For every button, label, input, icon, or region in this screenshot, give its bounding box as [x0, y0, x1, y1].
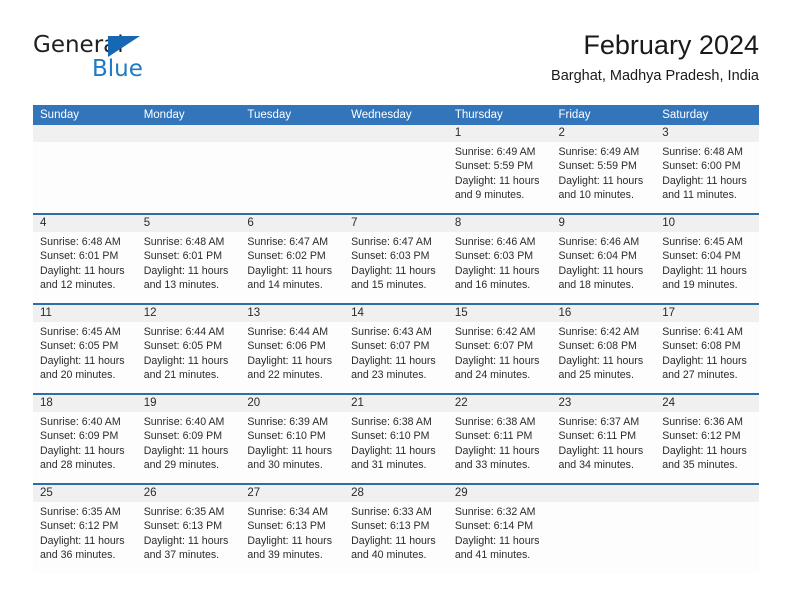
day-number[interactable]: 16: [552, 304, 656, 322]
day-info-line: Sunset: 6:05 PM: [144, 339, 234, 353]
day-info-line: Daylight: 11 hours: [662, 264, 752, 278]
day-info-line: Sunset: 6:05 PM: [40, 339, 130, 353]
day-info-line: and 19 minutes.: [662, 278, 752, 292]
day-info-line: and 35 minutes.: [662, 458, 752, 472]
day-info-line: Daylight: 11 hours: [247, 264, 337, 278]
day-info-line: Sunrise: 6:46 AM: [455, 235, 545, 249]
day-info-line: Daylight: 11 hours: [247, 354, 337, 368]
day-info-line: and 37 minutes.: [144, 548, 234, 562]
week-detail-row: Sunrise: 6:49 AMSunset: 5:59 PMDaylight:…: [33, 142, 759, 214]
week-detail-row: Sunrise: 6:45 AMSunset: 6:05 PMDaylight:…: [33, 322, 759, 394]
day-info-line: Daylight: 11 hours: [40, 354, 130, 368]
day-cell[interactable]: Sunrise: 6:45 AMSunset: 6:04 PMDaylight:…: [655, 232, 759, 304]
weekday-header-row: SundayMondayTuesdayWednesdayThursdayFrid…: [33, 105, 759, 125]
day-info-line: Sunset: 6:11 PM: [559, 429, 649, 443]
day-number[interactable]: 12: [137, 304, 241, 322]
day-number[interactable]: 25: [33, 484, 137, 502]
day-info-line: Sunset: 6:10 PM: [247, 429, 337, 443]
day-info-line: and 39 minutes.: [247, 548, 337, 562]
day-number[interactable]: 2: [552, 125, 656, 142]
day-info-line: Sunset: 6:04 PM: [559, 249, 649, 263]
day-cell[interactable]: Sunrise: 6:45 AMSunset: 6:05 PMDaylight:…: [33, 322, 137, 394]
day-info-line: Sunrise: 6:33 AM: [351, 505, 441, 519]
week-number-row: 11121314151617: [33, 304, 759, 322]
day-number[interactable]: 19: [137, 394, 241, 412]
day-info-line: Daylight: 11 hours: [144, 354, 234, 368]
day-info-line: and 34 minutes.: [559, 458, 649, 472]
day-number[interactable]: 14: [344, 304, 448, 322]
day-cell[interactable]: Sunrise: 6:43 AMSunset: 6:07 PMDaylight:…: [344, 322, 448, 394]
day-info-line: Sunset: 6:04 PM: [662, 249, 752, 263]
day-cell[interactable]: Sunrise: 6:35 AMSunset: 6:12 PMDaylight:…: [33, 502, 137, 574]
day-info-line: Sunset: 6:02 PM: [247, 249, 337, 263]
day-info-line: and 12 minutes.: [40, 278, 130, 292]
day-info-line: Sunrise: 6:46 AM: [559, 235, 649, 249]
day-info-line: Sunset: 6:00 PM: [662, 159, 752, 173]
weekday-header-monday: Monday: [137, 105, 241, 125]
day-number[interactable]: 11: [33, 304, 137, 322]
day-number-empty: [240, 125, 344, 142]
day-info-line: Sunrise: 6:37 AM: [559, 415, 649, 429]
day-number[interactable]: 13: [240, 304, 344, 322]
day-info-line: Daylight: 11 hours: [455, 354, 545, 368]
day-cell[interactable]: Sunrise: 6:49 AMSunset: 5:59 PMDaylight:…: [552, 142, 656, 214]
day-cell[interactable]: Sunrise: 6:40 AMSunset: 6:09 PMDaylight:…: [33, 412, 137, 484]
day-number[interactable]: 18: [33, 394, 137, 412]
day-number[interactable]: 5: [137, 214, 241, 232]
week-number-row: 2526272829: [33, 484, 759, 502]
day-info-line: Sunrise: 6:39 AM: [247, 415, 337, 429]
day-info-line: and 27 minutes.: [662, 368, 752, 382]
day-info-line: Sunset: 6:07 PM: [455, 339, 545, 353]
day-number[interactable]: 7: [344, 214, 448, 232]
day-info-line: Daylight: 11 hours: [662, 174, 752, 188]
day-number[interactable]: 3: [655, 125, 759, 142]
day-info-line: and 16 minutes.: [455, 278, 545, 292]
day-info-line: Sunrise: 6:48 AM: [40, 235, 130, 249]
day-info-line: Sunrise: 6:45 AM: [40, 325, 130, 339]
day-info-line: and 31 minutes.: [351, 458, 441, 472]
day-info-line: Sunrise: 6:49 AM: [559, 145, 649, 159]
day-number[interactable]: 26: [137, 484, 241, 502]
day-info-line: Daylight: 11 hours: [351, 534, 441, 548]
day-info-line: and 18 minutes.: [559, 278, 649, 292]
weekday-header-saturday: Saturday: [655, 105, 759, 125]
calendar-page: General Blue February 2024 Barghat, Madh…: [0, 0, 792, 612]
day-info-line: and 11 minutes.: [662, 188, 752, 202]
day-cell[interactable]: Sunrise: 6:38 AMSunset: 6:10 PMDaylight:…: [344, 412, 448, 484]
day-info-line: and 36 minutes.: [40, 548, 130, 562]
day-cell[interactable]: Sunrise: 6:39 AMSunset: 6:10 PMDaylight:…: [240, 412, 344, 484]
day-info-line: Sunset: 5:59 PM: [455, 159, 545, 173]
day-info-line: Daylight: 11 hours: [144, 264, 234, 278]
day-number[interactable]: 4: [33, 214, 137, 232]
day-info-line: and 10 minutes.: [559, 188, 649, 202]
weekday-header-tuesday: Tuesday: [240, 105, 344, 125]
day-info-line: Sunrise: 6:38 AM: [351, 415, 441, 429]
day-info-line: Daylight: 11 hours: [144, 534, 234, 548]
day-info-line: Daylight: 11 hours: [351, 444, 441, 458]
day-info-line: and 20 minutes.: [40, 368, 130, 382]
day-info-line: Sunrise: 6:35 AM: [144, 505, 234, 519]
day-info-line: Sunset: 6:01 PM: [40, 249, 130, 263]
day-info-line: and 22 minutes.: [247, 368, 337, 382]
day-number[interactable]: 27: [240, 484, 344, 502]
day-cell-empty: [137, 142, 241, 214]
day-info-line: Sunrise: 6:44 AM: [144, 325, 234, 339]
day-info-line: Sunset: 6:09 PM: [40, 429, 130, 443]
day-cell-empty: [240, 142, 344, 214]
day-cell[interactable]: Sunrise: 6:38 AMSunset: 6:11 PMDaylight:…: [448, 412, 552, 484]
day-number[interactable]: 9: [552, 214, 656, 232]
page-title: February 2024: [551, 28, 759, 62]
day-number[interactable]: 22: [448, 394, 552, 412]
day-info-line: Sunset: 6:07 PM: [351, 339, 441, 353]
day-info-line: and 29 minutes.: [144, 458, 234, 472]
day-info-line: Sunrise: 6:44 AM: [247, 325, 337, 339]
day-info-line: Sunrise: 6:42 AM: [559, 325, 649, 339]
day-info-line: Sunset: 6:03 PM: [351, 249, 441, 263]
day-info-line: and 40 minutes.: [351, 548, 441, 562]
day-cell[interactable]: Sunrise: 6:48 AMSunset: 6:01 PMDaylight:…: [137, 232, 241, 304]
day-info-line: Daylight: 11 hours: [559, 444, 649, 458]
day-info-line: Sunset: 6:08 PM: [662, 339, 752, 353]
day-cell[interactable]: Sunrise: 6:32 AMSunset: 6:14 PMDaylight:…: [448, 502, 552, 574]
day-info-line: and 25 minutes.: [559, 368, 649, 382]
day-info-line: Sunset: 6:13 PM: [247, 519, 337, 533]
day-info-line: Daylight: 11 hours: [455, 534, 545, 548]
day-info-line: Sunset: 6:13 PM: [351, 519, 441, 533]
day-info-line: Sunset: 6:08 PM: [559, 339, 649, 353]
day-info-line: Sunset: 6:03 PM: [455, 249, 545, 263]
day-info-line: Daylight: 11 hours: [662, 444, 752, 458]
day-info-line: Sunrise: 6:40 AM: [144, 415, 234, 429]
day-number[interactable]: 6: [240, 214, 344, 232]
day-number[interactable]: 29: [448, 484, 552, 502]
day-cell[interactable]: Sunrise: 6:41 AMSunset: 6:08 PMDaylight:…: [655, 322, 759, 394]
day-info-line: Sunrise: 6:48 AM: [144, 235, 234, 249]
day-info-line: Daylight: 11 hours: [559, 174, 649, 188]
day-info-line: Sunset: 6:11 PM: [455, 429, 545, 443]
day-info-line: Sunrise: 6:36 AM: [662, 415, 752, 429]
day-info-line: Sunset: 6:10 PM: [351, 429, 441, 443]
day-info-line: Sunrise: 6:35 AM: [40, 505, 130, 519]
weekday-header-wednesday: Wednesday: [344, 105, 448, 125]
brand-logo[interactable]: General Blue: [33, 32, 233, 92]
day-info-line: Daylight: 11 hours: [40, 534, 130, 548]
day-info-line: Daylight: 11 hours: [351, 354, 441, 368]
day-cell[interactable]: Sunrise: 6:42 AMSunset: 6:08 PMDaylight:…: [552, 322, 656, 394]
day-info-line: Sunrise: 6:40 AM: [40, 415, 130, 429]
day-cell[interactable]: Sunrise: 6:47 AMSunset: 6:02 PMDaylight:…: [240, 232, 344, 304]
day-cell[interactable]: Sunrise: 6:36 AMSunset: 6:12 PMDaylight:…: [655, 412, 759, 484]
day-cell[interactable]: Sunrise: 6:46 AMSunset: 6:03 PMDaylight:…: [448, 232, 552, 304]
day-info-line: and 30 minutes.: [247, 458, 337, 472]
day-info-line: and 28 minutes.: [40, 458, 130, 472]
day-info-line: Sunrise: 6:47 AM: [247, 235, 337, 249]
day-info-line: Sunrise: 6:45 AM: [662, 235, 752, 249]
week-number-row: 18192021222324: [33, 394, 759, 412]
day-cell[interactable]: Sunrise: 6:47 AMSunset: 6:03 PMDaylight:…: [344, 232, 448, 304]
day-info-line: Sunrise: 6:47 AM: [351, 235, 441, 249]
day-info-line: Sunset: 6:12 PM: [40, 519, 130, 533]
week-detail-row: Sunrise: 6:35 AMSunset: 6:12 PMDaylight:…: [33, 502, 759, 574]
day-info-line: Sunset: 5:59 PM: [559, 159, 649, 173]
day-info-line: Sunrise: 6:41 AM: [662, 325, 752, 339]
day-info-line: Daylight: 11 hours: [455, 264, 545, 278]
day-info-line: and 33 minutes.: [455, 458, 545, 472]
day-cell[interactable]: Sunrise: 6:37 AMSunset: 6:11 PMDaylight:…: [552, 412, 656, 484]
triangle-logo-icon: [108, 36, 140, 57]
day-info-line: and 23 minutes.: [351, 368, 441, 382]
week-detail-row: Sunrise: 6:40 AMSunset: 6:09 PMDaylight:…: [33, 412, 759, 484]
day-number[interactable]: 28: [344, 484, 448, 502]
day-number-empty: [137, 125, 241, 142]
day-cell-empty: [33, 142, 137, 214]
day-info-line: Daylight: 11 hours: [247, 534, 337, 548]
day-info-line: Daylight: 11 hours: [559, 264, 649, 278]
weekday-header-thursday: Thursday: [448, 105, 552, 125]
day-number[interactable]: 20: [240, 394, 344, 412]
day-cell-empty: [552, 502, 656, 574]
day-cell[interactable]: Sunrise: 6:40 AMSunset: 6:09 PMDaylight:…: [137, 412, 241, 484]
day-info-line: Sunset: 6:12 PM: [662, 429, 752, 443]
calendar-grid: SundayMondayTuesdayWednesdayThursdayFrid…: [33, 105, 759, 574]
day-info-line: Daylight: 11 hours: [455, 174, 545, 188]
day-cell[interactable]: Sunrise: 6:42 AMSunset: 6:07 PMDaylight:…: [448, 322, 552, 394]
day-cell[interactable]: Sunrise: 6:35 AMSunset: 6:13 PMDaylight:…: [137, 502, 241, 574]
day-cell[interactable]: Sunrise: 6:49 AMSunset: 5:59 PMDaylight:…: [448, 142, 552, 214]
day-info-line: and 41 minutes.: [455, 548, 545, 562]
day-info-line: Sunrise: 6:32 AM: [455, 505, 545, 519]
brand-name-blue: Blue: [92, 56, 143, 82]
day-info-line: Sunrise: 6:38 AM: [455, 415, 545, 429]
day-info-line: Sunset: 6:13 PM: [144, 519, 234, 533]
day-info-line: Sunset: 6:01 PM: [144, 249, 234, 263]
day-cell[interactable]: Sunrise: 6:44 AMSunset: 6:06 PMDaylight:…: [240, 322, 344, 394]
day-number-empty: [552, 484, 656, 502]
day-info-line: and 13 minutes.: [144, 278, 234, 292]
day-number[interactable]: 23: [552, 394, 656, 412]
day-info-line: Daylight: 11 hours: [455, 444, 545, 458]
calendar-body: 123Sunrise: 6:49 AMSunset: 5:59 PMDaylig…: [33, 125, 759, 574]
title-block: February 2024 Barghat, Madhya Pradesh, I…: [551, 28, 759, 87]
day-info-line: Daylight: 11 hours: [351, 264, 441, 278]
day-cell[interactable]: Sunrise: 6:48 AMSunset: 6:00 PMDaylight:…: [655, 142, 759, 214]
day-number[interactable]: 21: [344, 394, 448, 412]
day-number-empty: [33, 125, 137, 142]
page-subtitle: Barghat, Madhya Pradesh, India: [551, 65, 759, 87]
day-number[interactable]: 24: [655, 394, 759, 412]
day-info-line: Daylight: 11 hours: [662, 354, 752, 368]
day-number[interactable]: 15: [448, 304, 552, 322]
day-number-empty: [655, 484, 759, 502]
day-info-line: Daylight: 11 hours: [144, 444, 234, 458]
day-info-line: Sunset: 6:06 PM: [247, 339, 337, 353]
week-number-row: 123: [33, 125, 759, 142]
day-info-line: Sunset: 6:09 PM: [144, 429, 234, 443]
day-info-line: and 9 minutes.: [455, 188, 545, 202]
day-info-line: Sunrise: 6:48 AM: [662, 145, 752, 159]
day-cell-empty: [655, 502, 759, 574]
day-number[interactable]: 10: [655, 214, 759, 232]
day-number[interactable]: 8: [448, 214, 552, 232]
day-cell[interactable]: Sunrise: 6:44 AMSunset: 6:05 PMDaylight:…: [137, 322, 241, 394]
day-info-line: and 21 minutes.: [144, 368, 234, 382]
day-info-line: Daylight: 11 hours: [40, 264, 130, 278]
day-info-line: Sunset: 6:14 PM: [455, 519, 545, 533]
day-cell[interactable]: Sunrise: 6:34 AMSunset: 6:13 PMDaylight:…: [240, 502, 344, 574]
weekday-header-sunday: Sunday: [33, 105, 137, 125]
day-cell[interactable]: Sunrise: 6:33 AMSunset: 6:13 PMDaylight:…: [344, 502, 448, 574]
weekday-header-friday: Friday: [552, 105, 656, 125]
day-cell[interactable]: Sunrise: 6:46 AMSunset: 6:04 PMDaylight:…: [552, 232, 656, 304]
day-info-line: Sunrise: 6:34 AM: [247, 505, 337, 519]
day-info-line: Daylight: 11 hours: [247, 444, 337, 458]
day-info-line: and 14 minutes.: [247, 278, 337, 292]
page-header: General Blue February 2024 Barghat, Madh…: [33, 28, 759, 94]
day-info-line: Sunrise: 6:42 AM: [455, 325, 545, 339]
day-info-line: Daylight: 11 hours: [559, 354, 649, 368]
day-info-line: and 15 minutes.: [351, 278, 441, 292]
day-info-line: Sunrise: 6:49 AM: [455, 145, 545, 159]
day-number-empty: [344, 125, 448, 142]
day-number[interactable]: 1: [448, 125, 552, 142]
day-info-line: Daylight: 11 hours: [40, 444, 130, 458]
day-cell[interactable]: Sunrise: 6:48 AMSunset: 6:01 PMDaylight:…: [33, 232, 137, 304]
day-number[interactable]: 17: [655, 304, 759, 322]
week-number-row: 45678910: [33, 214, 759, 232]
week-detail-row: Sunrise: 6:48 AMSunset: 6:01 PMDaylight:…: [33, 232, 759, 304]
day-info-line: and 24 minutes.: [455, 368, 545, 382]
day-cell-empty: [344, 142, 448, 214]
day-info-line: Sunrise: 6:43 AM: [351, 325, 441, 339]
